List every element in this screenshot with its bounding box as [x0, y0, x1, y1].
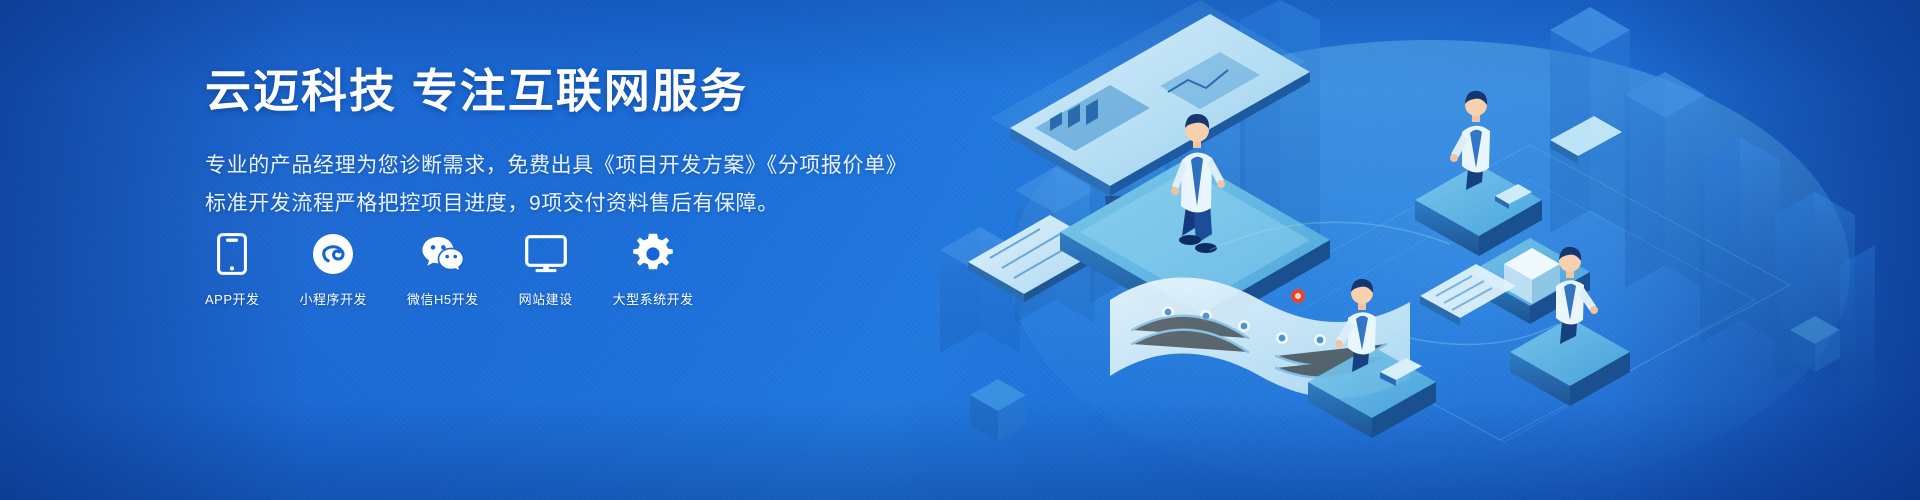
mini-program-icon [311, 232, 355, 276]
wechat-icon [421, 232, 465, 276]
service-item-wechat-h5[interactable]: 微信H5开发 [407, 232, 479, 308]
service-list: APP开发 小程序开发 [205, 232, 694, 308]
service-label-website: 网站建设 [519, 289, 573, 308]
page-title: 云迈科技 专注互联网服务 [205, 62, 925, 121]
hero-banner: 云迈科技 专注互联网服务 专业的产品经理为您诊断需求，免费出具《项目开发方案》《… [0, 0, 1920, 500]
banner-copy: 云迈科技 专注互联网服务 专业的产品经理为您诊断需求，免费出具《项目开发方案》《… [205, 62, 925, 223]
service-item-system[interactable]: 大型系统开发 [613, 232, 694, 308]
gear-icon [631, 232, 675, 276]
mobile-phone-icon [210, 232, 254, 276]
service-item-mini-program[interactable]: 小程序开发 [300, 232, 368, 308]
service-item-app[interactable]: APP开发 [205, 232, 260, 308]
monitor-icon [524, 232, 568, 276]
service-label-app: APP开发 [205, 289, 260, 308]
service-item-website[interactable]: 网站建设 [519, 232, 573, 308]
service-label-mini-program: 小程序开发 [300, 289, 368, 308]
subtitle-line-2: 标准开发流程严格把控项目进度，9项交付资料售后有保障。 [205, 185, 925, 223]
isometric-illustration [910, 0, 1920, 500]
service-label-system: 大型系统开发 [613, 289, 694, 308]
service-label-wechat-h5: 微信H5开发 [407, 289, 479, 308]
subtitle-line-1: 专业的产品经理为您诊断需求，免费出具《项目开发方案》《分项报价单》 [205, 147, 925, 185]
banner-subtitle: 专业的产品经理为您诊断需求，免费出具《项目开发方案》《分项报价单》 标准开发流程… [205, 147, 925, 223]
